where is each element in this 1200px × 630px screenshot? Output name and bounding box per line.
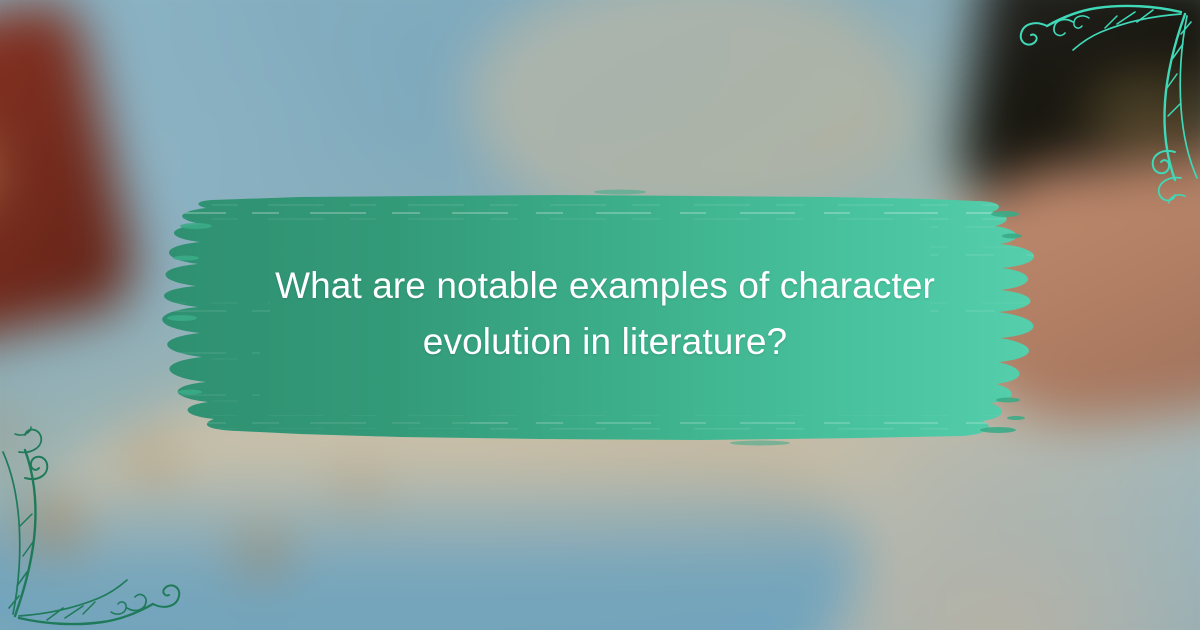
question-headline: What are notable examples of character e… bbox=[240, 258, 970, 370]
question-card: What are notable examples of character e… bbox=[0, 0, 1200, 630]
